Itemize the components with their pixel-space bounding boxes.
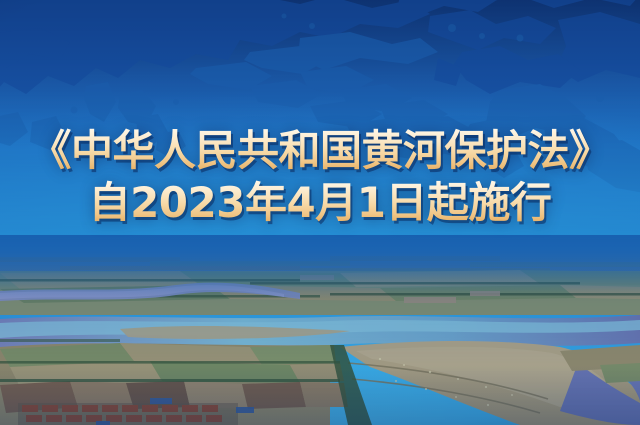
headline-line-1: 《中华人民共和国黄河保护法》 <box>0 126 640 176</box>
poster-image: 《中华人民共和国黄河保护法》 自2023年4月1日起施行 <box>0 0 640 425</box>
headline-block: 《中华人民共和国黄河保护法》 自2023年4月1日起施行 <box>0 126 640 228</box>
yellow-river-aerial-photo <box>0 235 640 425</box>
photo-horizon-haze <box>0 235 640 299</box>
headline-line-2: 自2023年4月1日起施行 <box>0 178 640 228</box>
